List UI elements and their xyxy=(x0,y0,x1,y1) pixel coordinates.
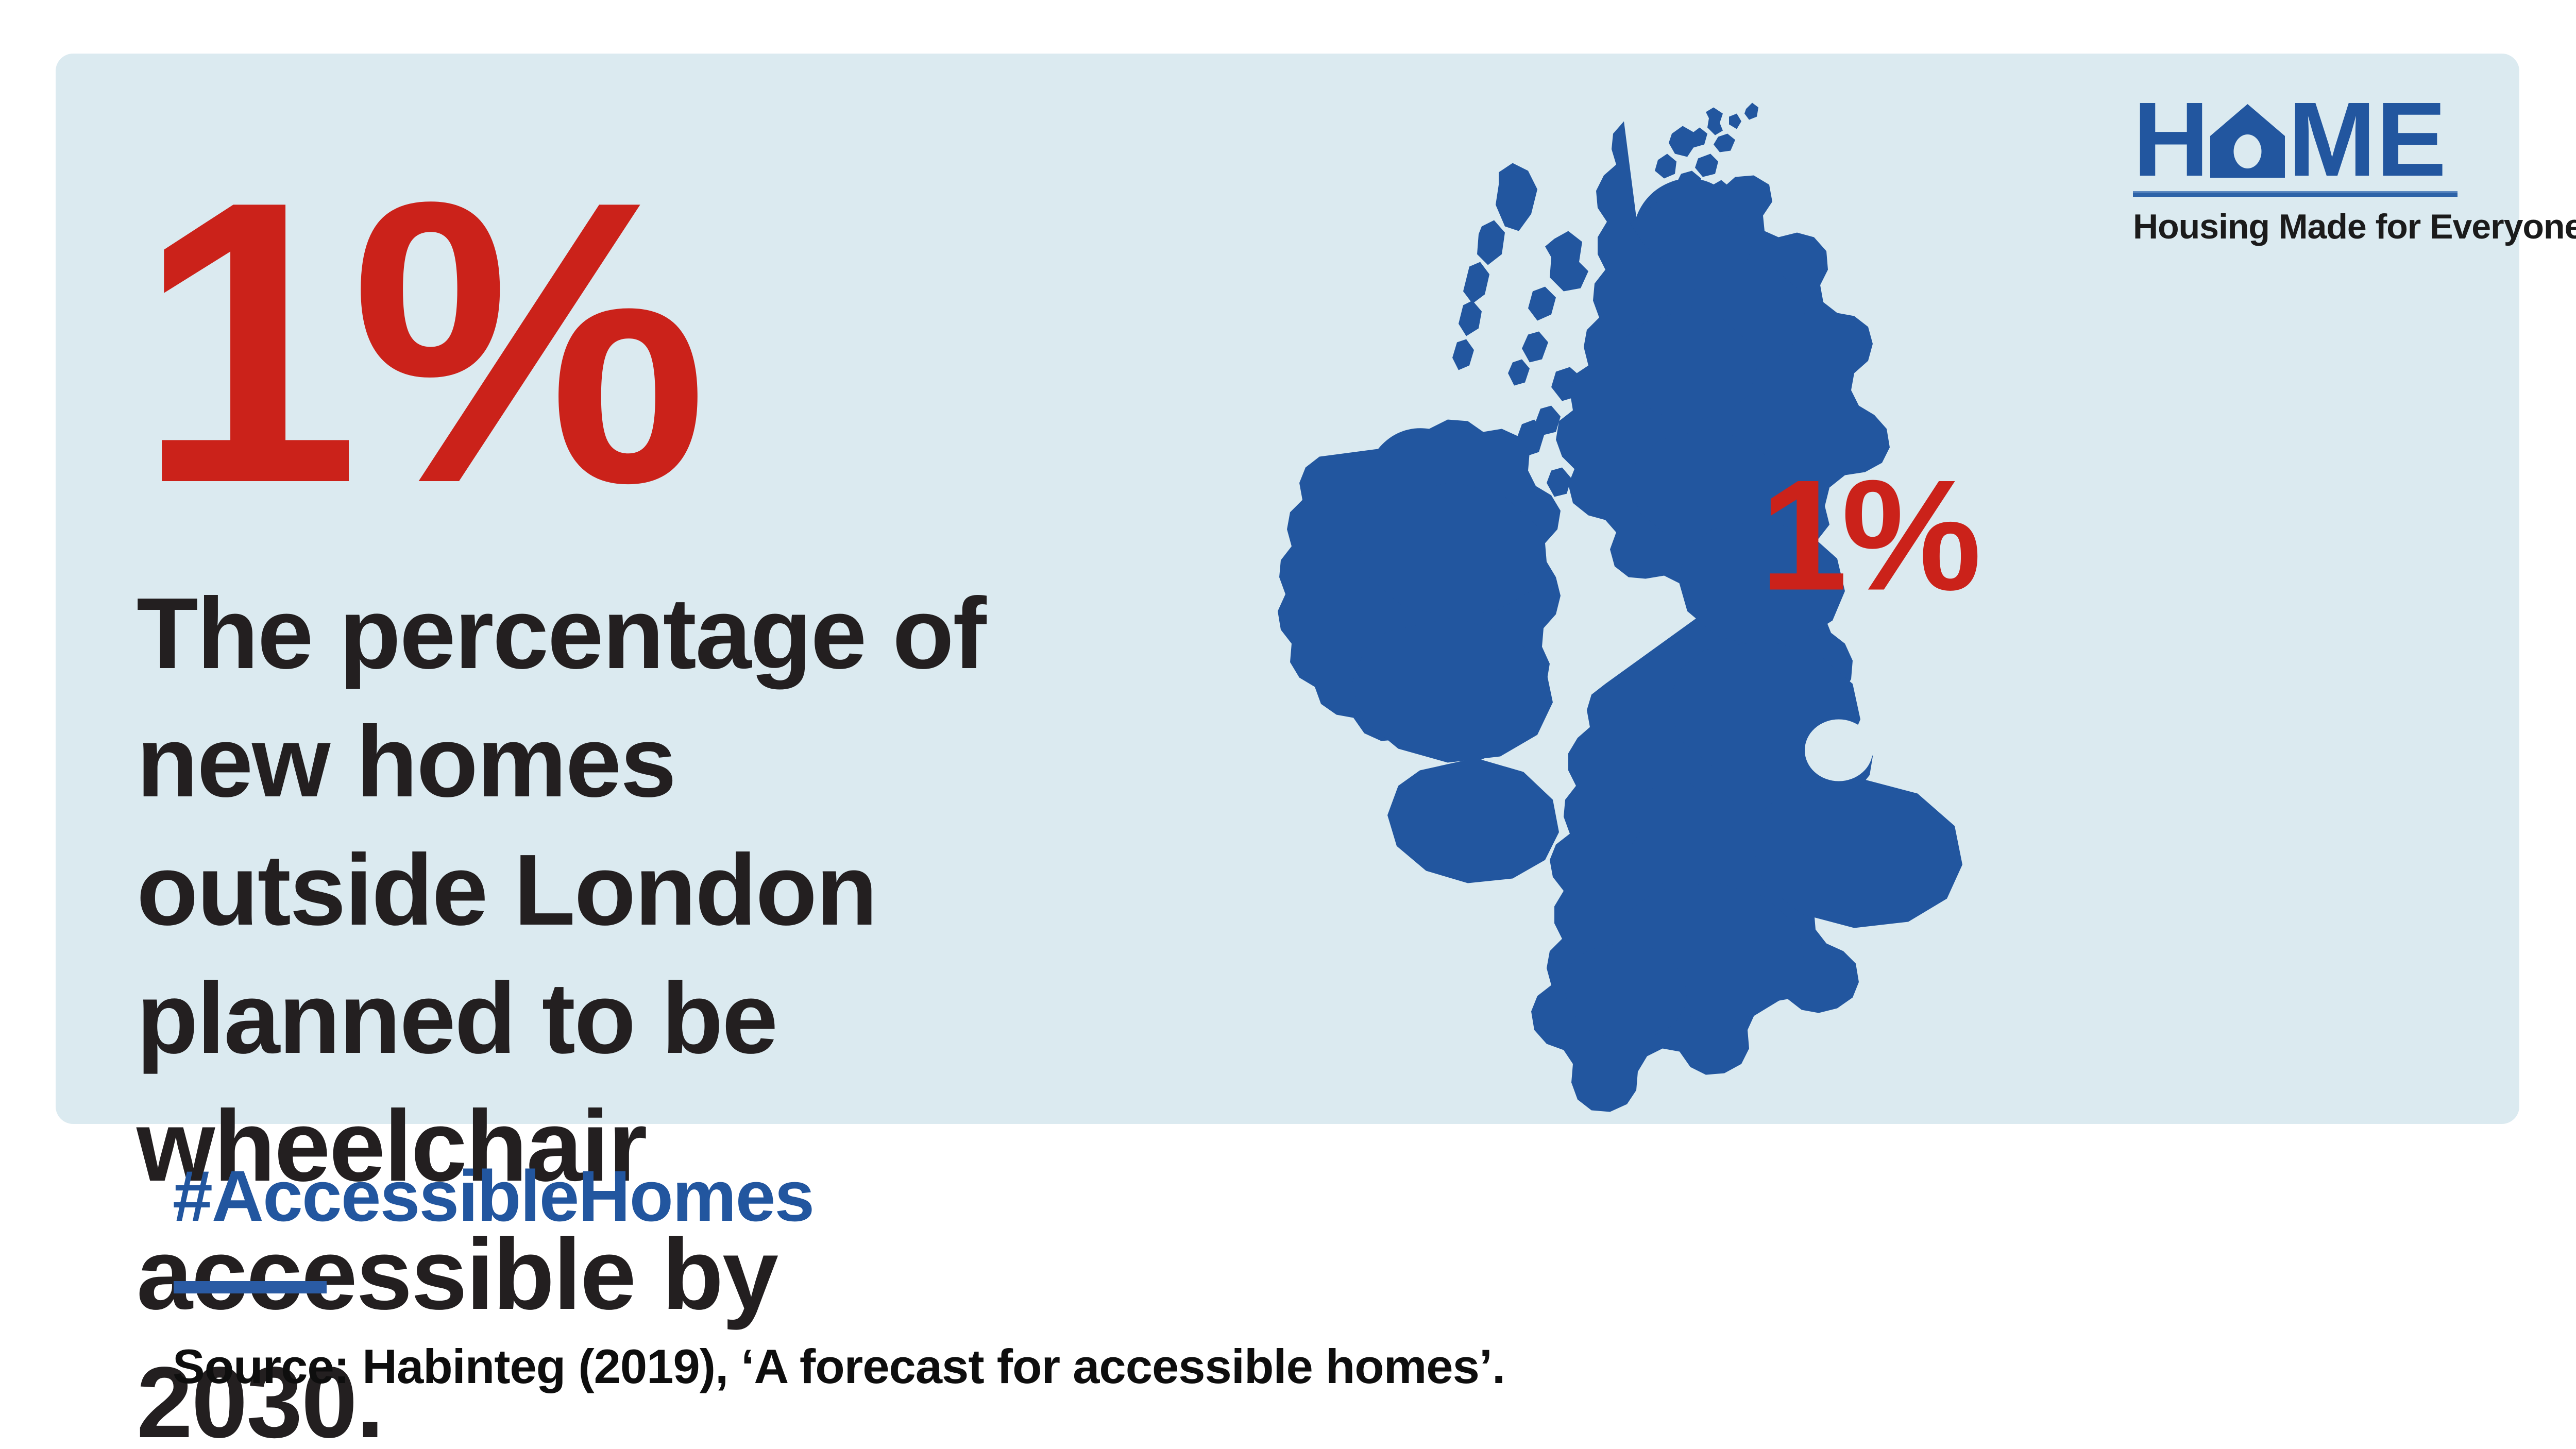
logo-tagline: Housing Made for Everyone xyxy=(2133,209,2458,244)
london-dot-marker xyxy=(1805,720,1873,781)
logo-wordmark: H M E xyxy=(2133,100,2458,178)
logo-letter-m: M xyxy=(2288,101,2374,178)
map-stat-label: 1% xyxy=(1760,447,1979,623)
home-logo[interactable]: H M E Housing Made for Everyone xyxy=(2133,100,2458,244)
headline-statistic: 1% xyxy=(137,170,1064,516)
infographic-canvas: 1% The percentage of new homes outside L… xyxy=(0,0,2576,1449)
divider-bar xyxy=(174,1281,327,1293)
campaign-hashtag[interactable]: #AccessibleHomes xyxy=(173,1160,814,1232)
british-isles-map: 1% xyxy=(1247,90,2050,1069)
statistic-description: The percentage of new homes outside Lond… xyxy=(137,570,1002,1449)
logo-letter-h: H xyxy=(2133,101,2207,178)
source-citation: Source: Habinteg (2019), ‘A forecast for… xyxy=(173,1342,1505,1391)
house-o-icon xyxy=(2210,104,2285,178)
logo-letter-e: E xyxy=(2376,101,2445,178)
